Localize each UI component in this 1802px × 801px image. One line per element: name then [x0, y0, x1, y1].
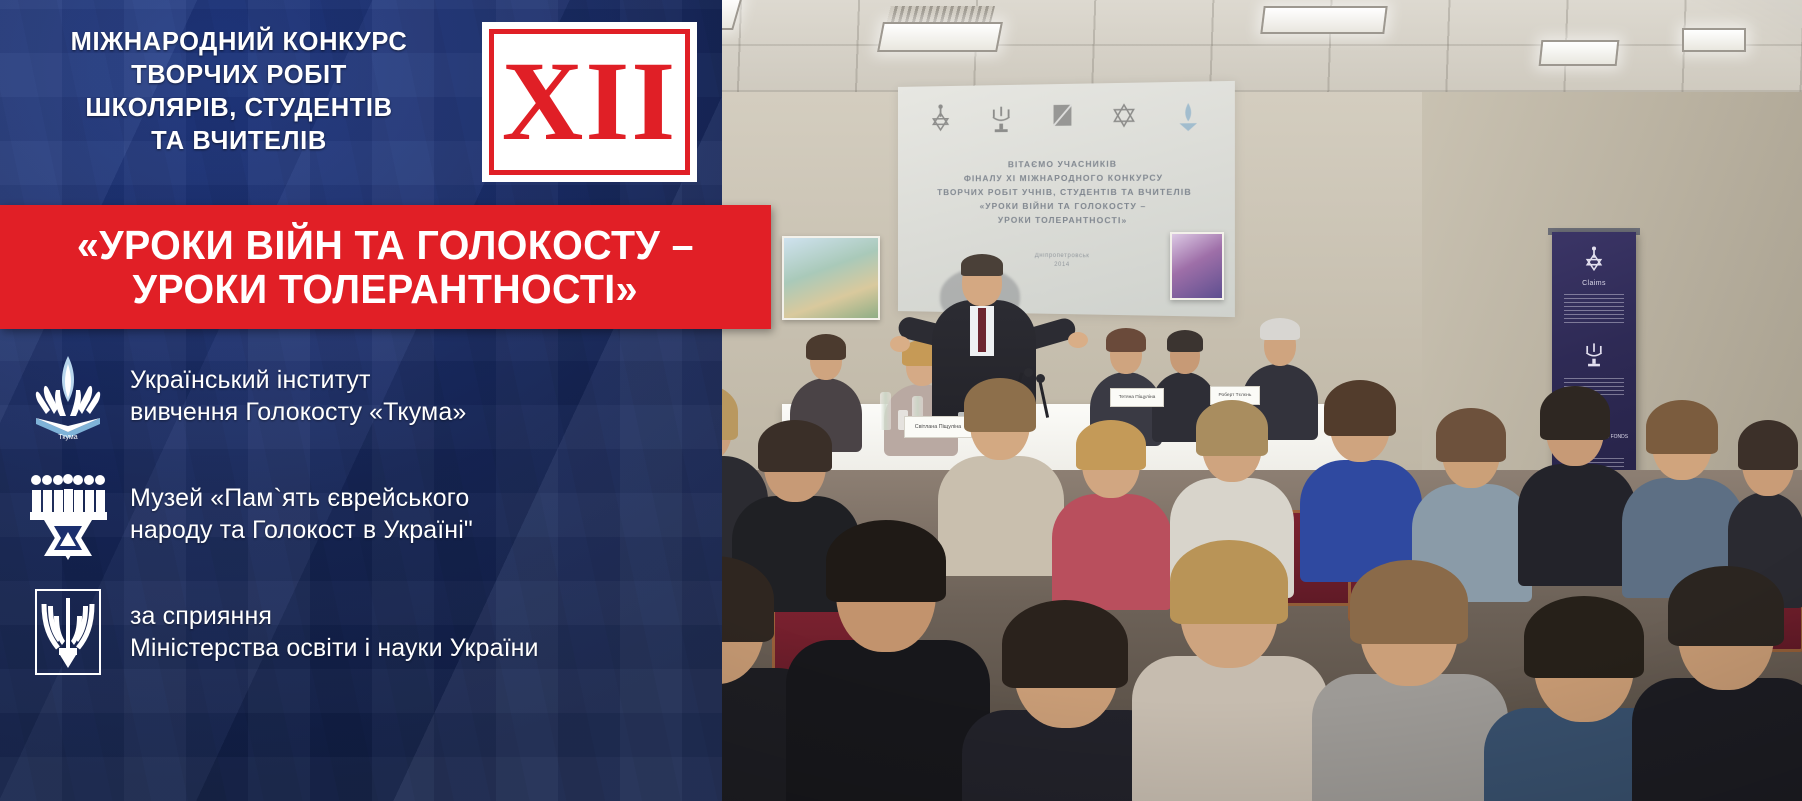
audience-person-front: [786, 520, 990, 801]
edition-number-badge: XII: [482, 22, 697, 182]
headline-line-4: ТА ВЧИТЕЛІВ: [0, 125, 478, 158]
theme-banner-line-2: УРОКИ ТОЛЕРАНТНОСТІ»: [133, 267, 638, 311]
audience-person-front: [1632, 566, 1802, 801]
organization-tkuma: Ткума Український інститут вивчення Голо…: [0, 350, 722, 442]
menorah-star-of-david-icon: [22, 468, 114, 560]
audience-person: [1518, 386, 1636, 576]
star-of-david-icon: [1107, 101, 1141, 140]
nameplate: Тетяна Піщуліна: [1110, 388, 1164, 407]
speaker-hair: [961, 254, 1003, 276]
organization-ministry: за сприяння Міністерства освіти і науки …: [0, 586, 722, 678]
slide-line: «УРОКИ ВІЙНИ ТА ГОЛОКОСТУ –: [904, 200, 1229, 214]
ukrainian-tryzub-icon: [22, 586, 114, 678]
joods-humanitair-fonds-logo-icon: [1045, 102, 1079, 140]
org-line: за сприяння: [130, 600, 539, 633]
speaker-hand: [890, 336, 910, 352]
audience-person-front: [1132, 540, 1328, 801]
org-line: Музей «Пам`ять єврейського: [130, 482, 473, 515]
org-line: Український інститут: [130, 364, 466, 397]
organization-museum: Музей «Пам`ять єврейського народу та Гол…: [0, 468, 722, 560]
organizations-list: Ткума Український інститут вивчення Голо…: [0, 350, 722, 704]
speaker-hand: [1068, 332, 1088, 348]
edition-number-frame: XII: [489, 29, 690, 175]
slide-line: ВІТАЄМО УЧАСНИКІВ: [904, 157, 1229, 173]
org-line: Міністерства освіти і науки України: [130, 632, 539, 665]
ceiling-lamp: [1260, 6, 1387, 34]
rollup-text-block: [1564, 294, 1624, 324]
page-title: МІЖНАРОДНИЙ КОНКУРС ТВОРЧИХ РОБІТ ШКОЛЯР…: [0, 26, 478, 159]
rollup-joint-icon: [1578, 340, 1610, 374]
org-line: народу та Голокост в Україні": [130, 514, 473, 547]
wall-artwork: [1170, 232, 1224, 300]
headline-line-1: МІЖНАРОДНИЙ КОНКУРС: [0, 26, 478, 59]
wall-artwork: [782, 236, 880, 320]
slide-sponsor-logos: [911, 98, 1220, 142]
slide-text: ВІТАЄМО УЧАСНИКІВ ФІНАЛУ ХI МІЖНАРОДНОГО…: [904, 157, 1229, 228]
theme-banner-line-1: «УРОКИ ВІЙН ТА ГОЛОКОСТУ –: [77, 223, 694, 267]
audience-person-front: [1312, 560, 1508, 801]
headline-line-3: ШКОЛЯРІВ, СТУДЕНТІВ: [0, 92, 478, 125]
microphone-head: [1024, 368, 1033, 377]
tkuma-flame-icon: [1171, 100, 1206, 139]
ceiling-lamp: [1539, 40, 1620, 66]
conference-photo: ВІТАЄМО УЧАСНИКІВ ФІНАЛУ ХI МІЖНАРОДНОГО…: [622, 0, 1802, 801]
rollup-claims-icon: [1578, 246, 1610, 280]
ceiling-grid: [622, 0, 1802, 92]
ceiling-lamp: [1682, 28, 1746, 52]
org-line: вивчення Голокосту «Ткума»: [130, 396, 466, 429]
audience-person: [1622, 400, 1744, 588]
rollup-claims-label: Claims: [1552, 280, 1636, 287]
slide-line: ФІНАЛУ ХI МІЖНАРОДНОГО КОНКУРСУ: [904, 171, 1229, 186]
organization-tkuma-label: Український інститут вивчення Голокосту …: [130, 364, 466, 429]
poster-root: ВІТАЄМО УЧАСНИКІВ ФІНАЛУ ХI МІЖНАРОДНОГО…: [0, 0, 1802, 801]
tkuma-flame-hands-icon: Ткума: [22, 350, 114, 442]
theme-banner: «УРОКИ ВІЙН ТА ГОЛОКОСТУ – УРОКИ ТОЛЕРАН…: [0, 205, 771, 329]
organization-museum-label: Музей «Пам`ять єврейського народу та Гол…: [130, 482, 473, 547]
edition-number-text: XII: [502, 57, 678, 147]
svg-text:Ткума: Ткума: [58, 434, 77, 441]
slide-line: ТВОРЧИХ РОБІТ УЧНІВ, СТУДЕНТІВ ТА ВЧИТЕЛ…: [904, 186, 1229, 200]
joint-logo-icon: [984, 103, 1017, 141]
slide-line: УРОКИ ТОЛЕРАНТНОСТІ»: [904, 213, 1229, 228]
water-bottle: [880, 392, 891, 430]
headline-line-2: ТВОРЧИХ РОБІТ: [0, 59, 478, 92]
claims-logo-icon: [925, 104, 957, 142]
organization-ministry-label: за сприяння Міністерства освіти і науки …: [130, 600, 539, 665]
ceiling-lamp: [877, 22, 1003, 52]
speaker-tie: [978, 308, 986, 352]
